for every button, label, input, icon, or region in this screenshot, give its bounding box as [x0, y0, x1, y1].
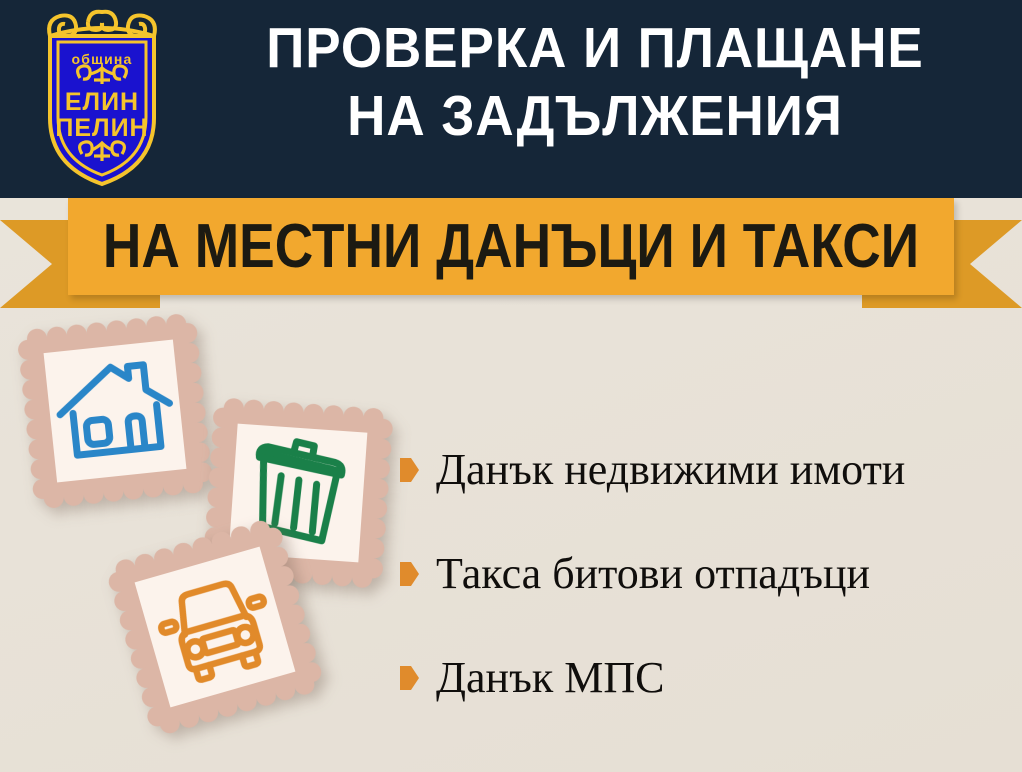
poster-canvas: община ЕЛИН ПЕЛИН — [0, 0, 1022, 772]
list-item-label: Такса битови отпадъци — [436, 550, 870, 598]
header-bar: община ЕЛИН ПЕЛИН — [0, 0, 1022, 198]
list-item-label: Данък МПС — [436, 654, 664, 702]
header-title-group: ПРОВЕРКА И ПЛАЩАНЕ НА ЗАДЪЛЖЕНИЯ — [180, 14, 1010, 150]
page-title-line-2: НА ЗАДЪЛЖЕНИЯ — [209, 82, 981, 150]
list-item[interactable]: Данък МПС — [400, 626, 1010, 730]
page-title-line-1: ПРОВЕРКА И ПЛАЩАНЕ — [209, 14, 981, 82]
bullet-arrow-icon — [400, 562, 419, 586]
tax-type-list: Данък недвижими имоти Такса битови отпад… — [400, 418, 1010, 730]
stamp-card-property — [13, 309, 217, 513]
svg-text:община: община — [71, 51, 132, 67]
list-item-label: Данък недвижими имоти — [436, 446, 905, 494]
ribbon-label: НА МЕСТНИ ДАНЪЦИ И ТАКСИ — [130, 198, 892, 295]
coat-of-arms-icon: община ЕЛИН ПЕЛИН — [28, 6, 176, 192]
bullet-arrow-icon — [400, 666, 419, 690]
svg-text:ПЕЛИН: ПЕЛИН — [55, 114, 148, 142]
bullet-arrow-icon — [400, 458, 419, 482]
svg-text:ЕЛИН: ЕЛИН — [65, 88, 139, 116]
list-item[interactable]: Такса битови отпадъци — [400, 522, 1010, 626]
subtitle-ribbon: НА МЕСТНИ ДАНЪЦИ И ТАКСИ — [0, 198, 1022, 310]
list-item[interactable]: Данък недвижими имоти — [400, 418, 1010, 522]
ribbon-band: НА МЕСТНИ ДАНЪЦИ И ТАКСИ — [68, 198, 954, 295]
